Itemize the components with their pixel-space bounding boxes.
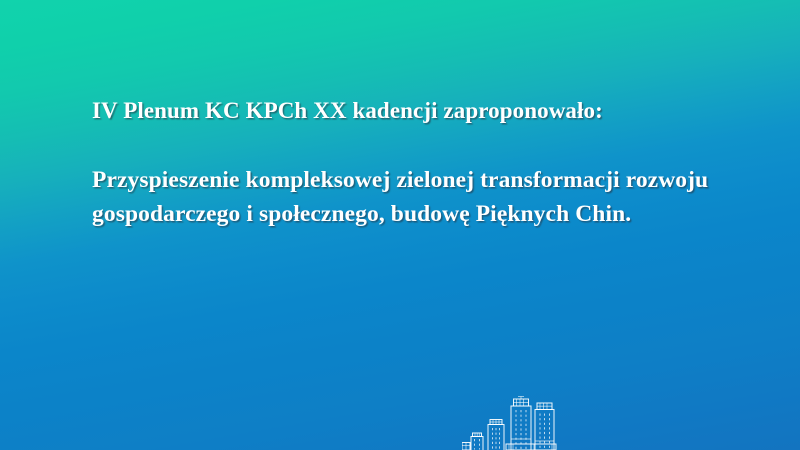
skyline-building-3 (511, 397, 531, 450)
presentation-slide: IV Plenum KC KPCh XX kadencji zaproponow… (0, 0, 800, 450)
skyline-building-1 (471, 433, 483, 450)
skyline-podium (506, 444, 556, 450)
skyline-building-2 (488, 420, 504, 450)
city-skyline-line-art (462, 392, 592, 450)
slide-body-line-2: gospodarczego i społecznego, budowę Pięk… (92, 197, 772, 231)
slide-headline: IV Plenum KC KPCh XX kadencji zaproponow… (92, 96, 772, 126)
skyline-building-4 (535, 403, 554, 450)
slide-body-block: Przyspieszenie kompleksowej zielonej tra… (92, 163, 772, 231)
slide-body-line-1: Przyspieszenie kompleksowej zielonej tra… (92, 163, 772, 197)
skyline-building-5 (462, 443, 470, 450)
slide-text-block: IV Plenum KC KPCh XX kadencji zaproponow… (92, 96, 772, 231)
